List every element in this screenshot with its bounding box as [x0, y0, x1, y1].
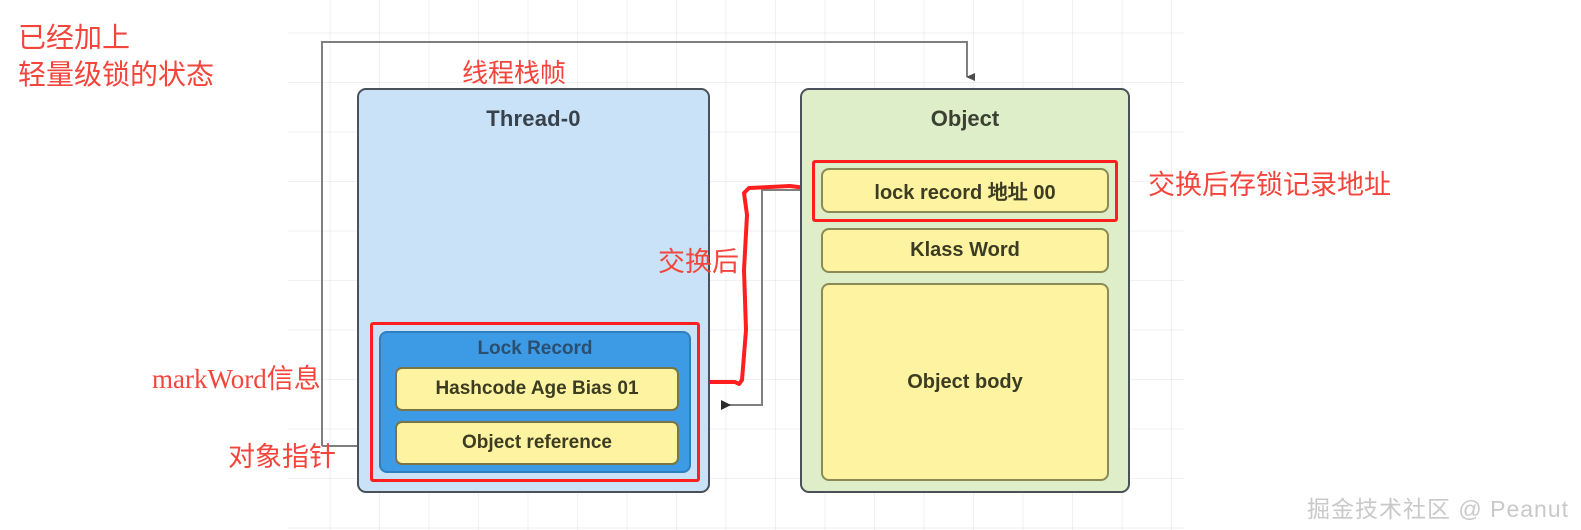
lock-record-title: Lock Record	[381, 338, 689, 360]
annotation-line-2: 轻量级锁的状态	[18, 57, 214, 94]
object-title: Object	[802, 106, 1128, 132]
watermark: 掘金技术社区 @ Peanut	[1307, 490, 1569, 524]
annotation-store-lock-record-address: 交换后存锁记录地址	[1148, 168, 1391, 204]
lock-record-card: Lock Record Hashcode Age Bias 01 Object …	[379, 331, 691, 473]
connector-object-to-lockrecord	[722, 190, 800, 405]
annotation-line-1: 已经加上	[18, 20, 214, 57]
thread-title: Thread-0	[359, 106, 708, 132]
lock-record-row-object-reference: Object reference	[395, 421, 679, 465]
object-cell-klass-word: Klass Word	[821, 228, 1109, 273]
object-markword-highlight-ring	[812, 160, 1118, 222]
annotation-stack-frame: 线程栈帧	[462, 56, 566, 90]
object-cell-object-body: Object body	[821, 283, 1109, 481]
annotation-object-pointer: 对象指针	[228, 440, 336, 476]
lock-record-row-markword: Hashcode Age Bias 01	[395, 367, 679, 411]
annotation-lightweight-lock-state: 已经加上 轻量级锁的状态	[18, 20, 214, 94]
annotation-after-swap: 交换后	[658, 245, 739, 281]
annotation-markword-info: markWord信息	[152, 362, 321, 398]
diagram-canvas: Thread-0 Lock Record Hashcode Age Bias 0…	[0, 0, 1581, 530]
